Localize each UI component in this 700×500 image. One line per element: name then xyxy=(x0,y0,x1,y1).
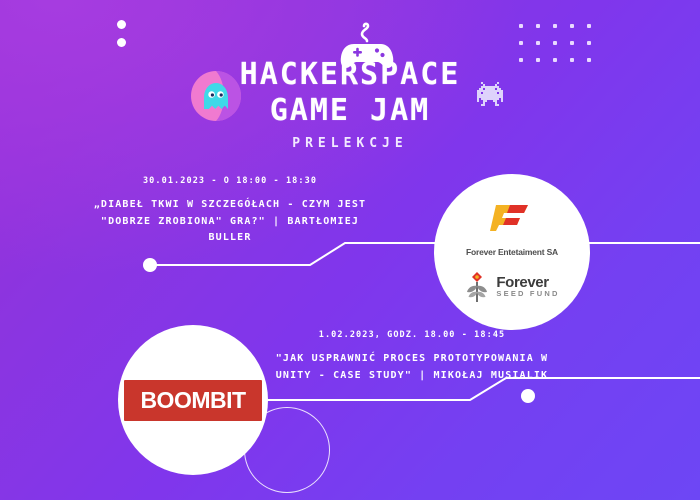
connector-node-dot xyxy=(143,258,157,272)
connector-node-dot xyxy=(521,389,535,403)
talk-description: „DIABEŁ TKWI W SZCZEGÓŁACH - CZYM JEST "… xyxy=(80,197,380,247)
connector-lines xyxy=(0,0,700,500)
talk-entry-2: 1.02.2023, GODZ. 18.00 - 18:45 "JAK USPR… xyxy=(268,330,556,384)
boombit-wordmark: BOOMBIT xyxy=(140,389,245,412)
forever-seed-fund-text: Forever SEED FUND xyxy=(496,275,559,299)
seed-fund-plant-icon xyxy=(464,271,490,303)
talk-entry-1: 30.01.2023 - O 18:00 - 18:30 „DIABEŁ TKW… xyxy=(80,176,380,247)
forever-entertainment-wordmark: Forever Entetaiment SA xyxy=(466,247,558,257)
talk-date: 30.01.2023 - O 18:00 - 18:30 xyxy=(80,176,380,186)
seed-fund-title: Forever xyxy=(496,275,559,291)
poster-canvas: HACKERSPACE GAME JAM PRELEKCJE 30.01.202… xyxy=(0,0,700,500)
seed-fund-subtitle: SEED FUND xyxy=(496,290,559,298)
forever-f-mark-icon xyxy=(490,202,534,232)
talk-description: "JAK USPRAWNIĆ PROCES PROTOTYPOWANIA W U… xyxy=(268,351,556,384)
forever-seed-fund-lockup: Forever SEED FUND xyxy=(464,271,559,303)
partner-logo-boombit: BOOMBIT xyxy=(118,325,268,475)
boombit-logo-box: BOOMBIT xyxy=(124,380,261,421)
talk-date: 1.02.2023, GODZ. 18.00 - 18:45 xyxy=(268,330,556,340)
partner-logo-forever-entertainment: Forever Entetaiment SA Forever SEED FUND xyxy=(434,174,590,330)
